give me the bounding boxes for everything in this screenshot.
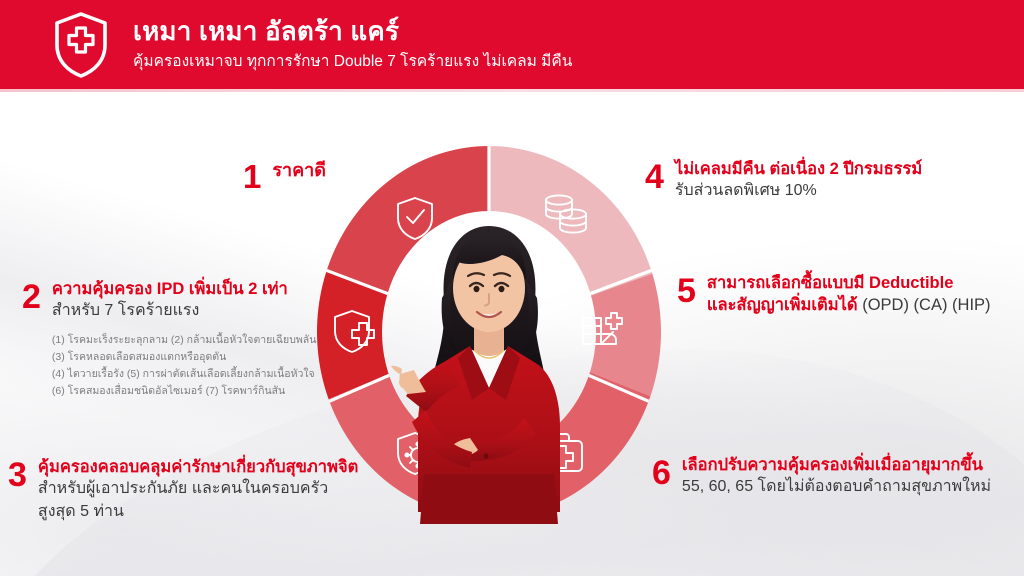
benefit-item-6: 6 เลือกปรับความคุ้มครองเพิ่มเมื่ออายุมาก…	[652, 454, 991, 499]
benefit-line-1: เลือกปรับความคุ้มครองเพิ่มเมื่ออายุมากขึ…	[682, 454, 991, 476]
benefit-number: 1	[243, 158, 261, 193]
benefit-item-5: 5 สามารถเลือกซื้อแบบมี Deductible และสัญ…	[677, 272, 991, 317]
benefit-number: 5	[677, 272, 696, 317]
benefit-ring-diagram	[313, 142, 665, 522]
benefit-number: 2	[22, 278, 41, 400]
header-underline	[0, 89, 1024, 92]
benefit-line-2-suffix: (OPD) (CA) (HIP)	[858, 296, 991, 314]
benefit-body: คุ้มครองคลอบคลุมค่ารักษาเกี่ยวกับสุขภาพจ…	[38, 456, 358, 523]
benefit-line-1: ไม่เคลมมีคืน ต่อเนื่อง 2 ปีกรมธรรม์	[675, 158, 922, 180]
header-bar: เหมา เหมา อัลตร้า แคร์ คุ้มครองเหมาจบ ทุ…	[0, 0, 1024, 89]
benefit-item-2: 2 ความคุ้มครอง IPD เพิ่มเป็น 2 เท่า สำหร…	[22, 278, 316, 400]
page-subtitle: คุ้มครองเหมาจบ ทุกการรักษา Double 7 โรคร…	[133, 53, 572, 72]
avatar	[374, 212, 604, 524]
benefit-line-1: ความคุ้มครอง IPD เพิ่มเป็น 2 เท่า	[52, 278, 317, 300]
benefit-item-4: 4 ไม่เคลมมีคืน ต่อเนื่อง 2 ปีกรมธรรม์ รั…	[645, 158, 922, 203]
benefit-line-2: รับส่วนลดพิเศษ 10%	[675, 180, 922, 202]
benefit-line-3: สูงสุด 5 ท่าน	[38, 501, 358, 523]
benefit-item-1: 1 ราคาดี	[243, 158, 326, 193]
benefit-body: เลือกปรับความคุ้มครองเพิ่มเมื่ออายุมากขึ…	[682, 454, 991, 499]
benefit-number: 6	[652, 454, 671, 499]
benefit-line-2-main: และสัญญาเพิ่มเติมได้	[707, 296, 858, 314]
benefit-body: ความคุ้มครอง IPD เพิ่มเป็น 2 เท่า สำหรับ…	[52, 278, 317, 400]
fineprint-line: (3) โรคหลอดเลือดสมองแตกหรืออุดตัน	[52, 349, 317, 366]
benefit-line-2: 55, 60, 65 โดยไม่ต้องตอบคำถามสุขภาพใหม่	[682, 476, 991, 498]
benefit-line-2: และสัญญาเพิ่มเติมได้ (OPD) (CA) (HIP)	[707, 294, 991, 316]
benefit-number: 3	[8, 456, 27, 523]
fineprint-line: (6) โรคสมองเสื่อมชนิดอัลไซเมอร์ (7) โรคพ…	[52, 383, 317, 400]
benefit-line-2: สำหรับ 7 โรคร้ายแรง	[52, 300, 317, 322]
benefit-fineprint: (1) โรคมะเร็งระยะลุกลาม (2) กล้ามเนื้อหั…	[52, 332, 317, 400]
page-title: เหมา เหมา อัลตร้า แคร์	[133, 17, 572, 47]
header-text-block: เหมา เหมา อัลตร้า แคร์ คุ้มครองเหมาจบ ทุ…	[133, 17, 572, 71]
benefit-line-1: ราคาดี	[272, 158, 326, 182]
fineprint-line: (4) ไตวายเรื้อรัง (5) การผ่าตัดเส้นเลือด…	[52, 366, 317, 383]
benefit-body: ราคาดี	[272, 158, 326, 193]
benefit-body: ไม่เคลมมีคืน ต่อเนื่อง 2 ปีกรมธรรม์ รับส…	[675, 158, 922, 203]
benefit-line-1: สามารถเลือกซื้อแบบมี Deductible	[707, 272, 991, 294]
benefit-number: 4	[645, 158, 664, 203]
fineprint-line: (1) โรคมะเร็งระยะลุกลาม (2) กล้ามเนื้อหั…	[52, 332, 317, 349]
shield-cross-icon	[52, 11, 110, 79]
benefit-line-1: คุ้มครองคลอบคลุมค่ารักษาเกี่ยวกับสุขภาพจ…	[38, 456, 358, 478]
benefit-body: สามารถเลือกซื้อแบบมี Deductible และสัญญา…	[707, 272, 991, 317]
benefit-line-2: สำหรับผู้เอาประกันภัย และคนในครอบครัว	[38, 478, 358, 500]
benefit-item-3: 3 คุ้มครองคลอบคลุมค่ารักษาเกี่ยวกับสุขภา…	[8, 456, 358, 523]
